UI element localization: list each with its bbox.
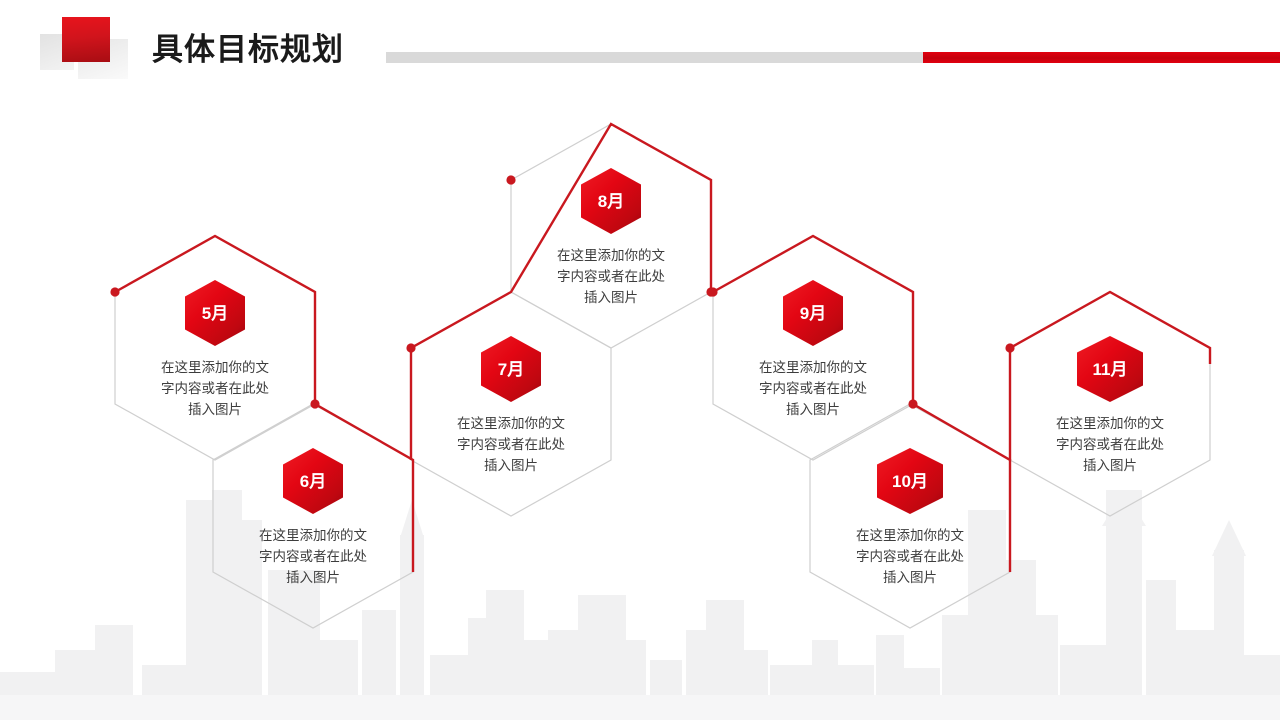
hexagon-timeline-diagram: 5月 在这里添加你的文 字内容或者在此处 插入图片 6月 在这里添加你的文 字内…	[0, 0, 1280, 720]
node-text-may: 在这里添加你的文 字内容或者在此处 插入图片	[125, 358, 305, 421]
logo-square-red	[62, 17, 110, 62]
slide-canvas: 具体目标规划	[0, 0, 1280, 720]
divider-red-segment	[923, 52, 1280, 63]
node-text-june: 在这里添加你的文 字内容或者在此处 插入图片	[223, 526, 403, 589]
hex-outline-may	[115, 236, 315, 460]
page-title: 具体目标规划	[152, 24, 344, 69]
hex-outline-november	[1010, 292, 1210, 516]
vertex-dot-august	[506, 175, 515, 184]
vertex-dot-sept-out	[908, 399, 917, 408]
hex-outline-october	[810, 404, 1010, 628]
node-text-november: 在这里添加你的文 字内容或者在此处 插入图片	[1020, 414, 1200, 477]
node-text-august: 在这里添加你的文 字内容或者在此处 插入图片	[521, 246, 701, 309]
vertex-dot-july	[406, 343, 415, 352]
hex-outline-july	[411, 292, 611, 516]
hex-outline-september	[713, 236, 913, 460]
node-text-september: 在这里添加你的文 字内容或者在此处 插入图片	[723, 358, 903, 421]
hex-outline-june	[213, 404, 413, 628]
slide-header: 具体目标规划	[0, 0, 1280, 96]
divider-gray-segment	[386, 52, 923, 63]
hex-outline-august	[511, 124, 711, 348]
vertex-dot-november	[1005, 343, 1014, 352]
vertex-dot-september	[708, 287, 717, 296]
node-text-july: 在这里添加你的文 字内容或者在此处 插入图片	[421, 414, 601, 477]
header-divider-bar	[386, 52, 1280, 63]
vertex-dot-may	[110, 287, 119, 296]
node-text-october: 在这里添加你的文 字内容或者在此处 插入图片	[820, 526, 1000, 589]
brand-squares-logo	[40, 14, 144, 74]
vertex-dot-may-out	[310, 399, 319, 408]
